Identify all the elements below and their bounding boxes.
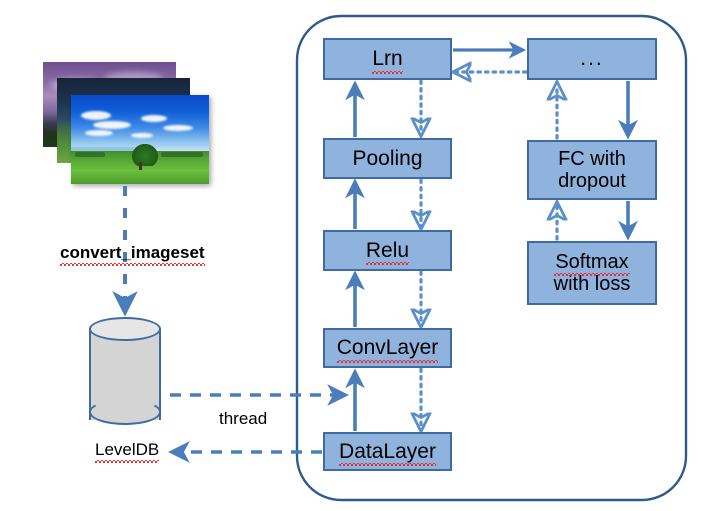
leveldb-text: LevelDB bbox=[95, 440, 159, 460]
node-softmax-label-line1: Softmax bbox=[554, 251, 631, 273]
leveldb-label: LevelDB bbox=[95, 440, 159, 460]
node-relu[interactable]: Relu bbox=[323, 230, 452, 271]
node-softmax-label-line2: with loss bbox=[554, 273, 631, 295]
node-convlayer-label: ConvLayer bbox=[337, 336, 439, 360]
convert-imageset-text: convert_imageset bbox=[60, 243, 205, 263]
node-relu-label: Relu bbox=[366, 239, 409, 263]
node-ellipsis[interactable]: ... bbox=[527, 38, 657, 80]
node-datalayer-label: DataLayer bbox=[339, 440, 436, 464]
node-softmax-with-loss[interactable]: Softmax with loss bbox=[527, 241, 657, 305]
node-fc-label-line2: dropout bbox=[558, 170, 626, 192]
node-fc-label-line1: FC with bbox=[558, 148, 626, 170]
node-pooling-label: Pooling bbox=[352, 147, 422, 171]
node-pooling[interactable]: Pooling bbox=[323, 138, 452, 179]
diagram-canvas: Lrn ... Pooling FC with dropout Relu Sof… bbox=[0, 0, 701, 511]
node-datalayer[interactable]: DataLayer bbox=[323, 432, 452, 471]
node-ellipsis-label: ... bbox=[580, 47, 604, 71]
node-convlayer[interactable]: ConvLayer bbox=[323, 328, 452, 368]
convert-imageset-label: convert_imageset bbox=[60, 243, 205, 263]
node-lrn-label: Lrn bbox=[372, 47, 402, 71]
node-fc-with-dropout[interactable]: FC with dropout bbox=[527, 140, 657, 200]
node-lrn[interactable]: Lrn bbox=[323, 38, 452, 80]
thread-label: thread bbox=[219, 409, 267, 429]
